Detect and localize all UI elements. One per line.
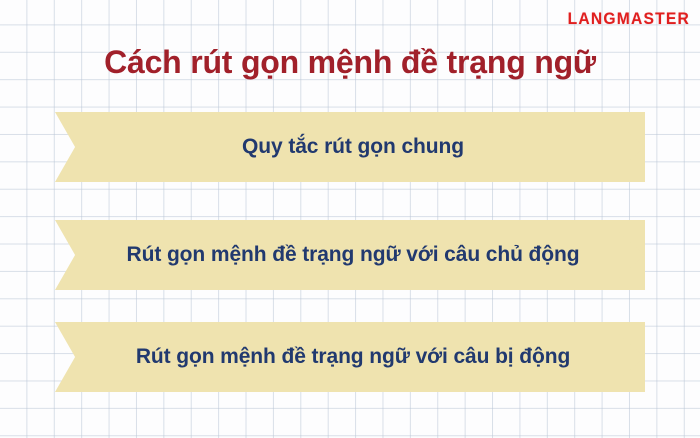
banner-3-label: Rút gọn mệnh đề trạng ngữ với câu bị độn… xyxy=(55,322,645,392)
page-title: Cách rút gọn mệnh đề trạng ngữ xyxy=(0,44,700,81)
banner-1-label: Quy tắc rút gọn chung xyxy=(55,112,645,182)
banner-item-2[interactable]: Rút gọn mệnh đề trạng ngữ với câu chủ độ… xyxy=(55,220,645,290)
banner-2-label: Rút gọn mệnh đề trạng ngữ với câu chủ độ… xyxy=(55,220,645,290)
langmaster-logo: LANGMASTER xyxy=(568,9,690,29)
banner-3-inner: Rút gọn mệnh đề trạng ngữ với câu bị độn… xyxy=(55,322,645,392)
banner-item-3[interactable]: Rút gọn mệnh đề trạng ngữ với câu bị độn… xyxy=(55,322,645,392)
banner-1-inner: Quy tắc rút gọn chung xyxy=(55,112,645,182)
banner-item-1[interactable]: Quy tắc rút gọn chung xyxy=(55,112,645,182)
banner-2-inner: Rút gọn mệnh đề trạng ngữ với câu chủ độ… xyxy=(55,220,645,290)
